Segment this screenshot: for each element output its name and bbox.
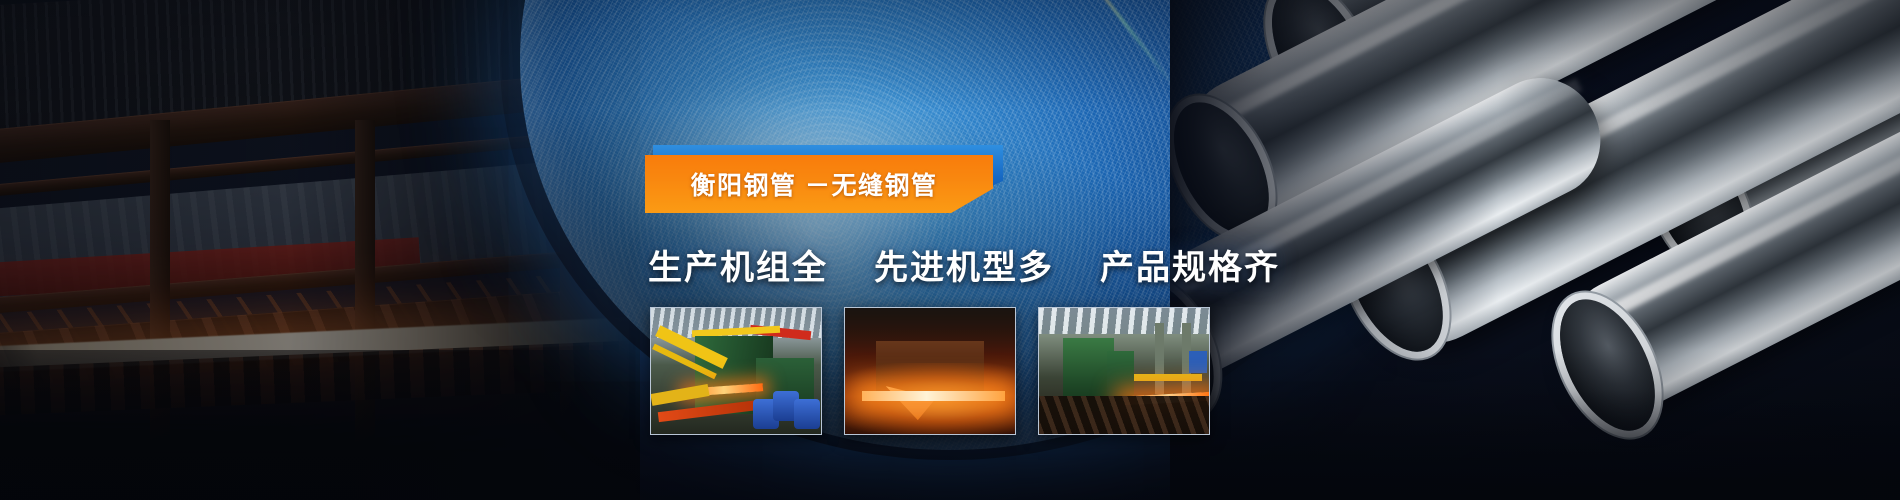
brand-tag-label: 衡阳钢管 －无缝钢管 xyxy=(691,166,948,202)
headline: 生产机组全 先进机型多 产品规格齐 xyxy=(648,240,1280,289)
brand-tag-orange-plate: 衡阳钢管 －无缝钢管 xyxy=(645,155,993,213)
thumbnail-hot-furnace-billet[interactable] xyxy=(844,307,1016,435)
blue-motor xyxy=(794,399,820,429)
banner-content: 衡阳钢管 －无缝钢管 生产机组全 先进机型多 产品规格齐 xyxy=(0,0,1900,500)
thumbnail-image xyxy=(651,308,821,434)
thumbnail-image xyxy=(1039,308,1209,434)
headline-item-2: 先进机型多 xyxy=(874,240,1054,289)
blue-cabinet xyxy=(1189,351,1207,373)
thumbnail-rolling-mill-line[interactable] xyxy=(650,307,822,435)
thumbnail-image xyxy=(845,308,1015,434)
steel-column xyxy=(1155,323,1164,394)
thumbnail-mill-hall-hot-steel[interactable] xyxy=(1038,307,1210,435)
glowing-steel-bar xyxy=(862,391,1005,401)
promo-banner: 衡阳钢管 －无缝钢管 生产机组全 先进机型多 产品规格齐 xyxy=(0,0,1900,500)
thumbnail-strip xyxy=(650,307,1210,435)
floor-equipment xyxy=(1039,396,1209,434)
headline-item-1: 生产机组全 xyxy=(648,240,828,289)
headline-item-3: 产品规格齐 xyxy=(1100,240,1280,289)
yellow-platform xyxy=(1134,374,1202,381)
brand-tag: 衡阳钢管 －无缝钢管 xyxy=(645,145,1005,215)
